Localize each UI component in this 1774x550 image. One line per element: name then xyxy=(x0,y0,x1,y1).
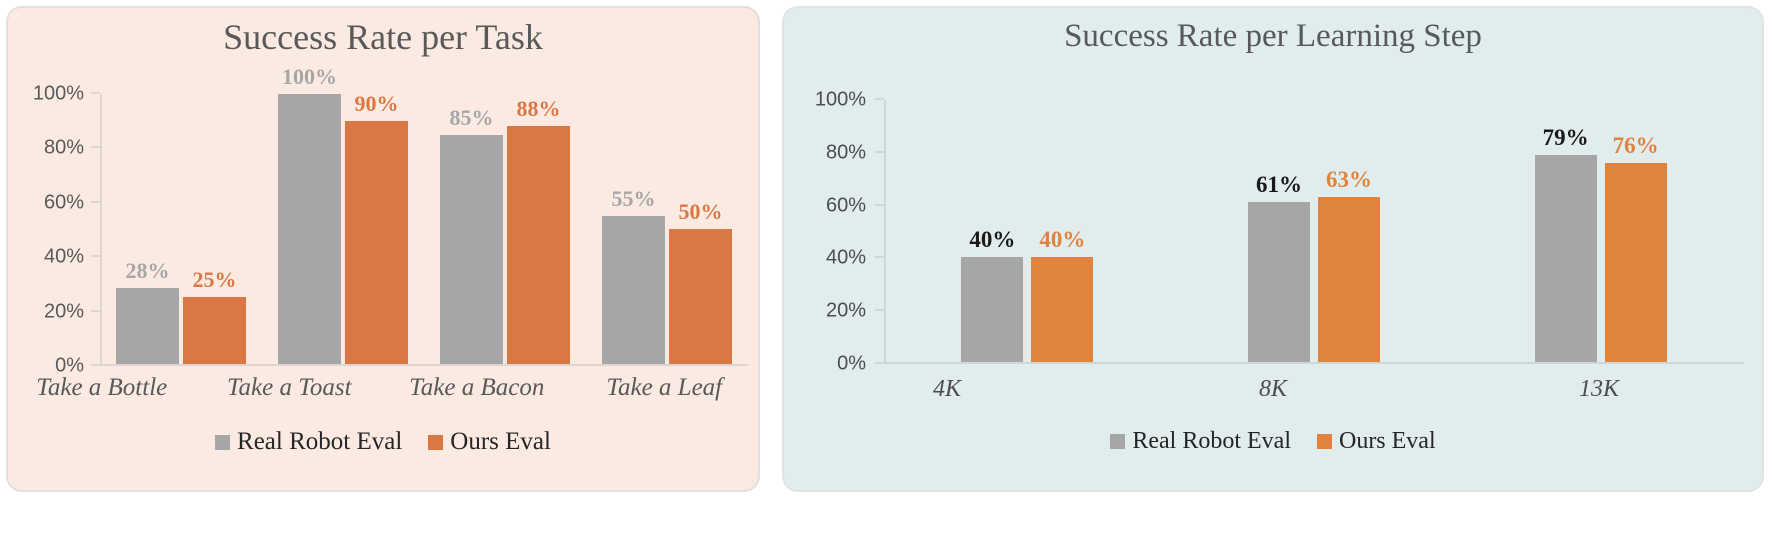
y-axis-tick-label: 60% xyxy=(44,191,84,214)
legend-swatch-icon xyxy=(1317,434,1332,449)
y-axis-tick-label: 40% xyxy=(826,247,866,270)
bar-value-label: 40% xyxy=(969,227,1015,253)
legend-left: Real Robot EvalOurs Eval xyxy=(8,428,758,456)
y-axis-tick xyxy=(875,309,884,311)
x-axis-line xyxy=(884,362,1744,364)
x-axis-category-label: 13K xyxy=(1436,376,1762,403)
bar-group: 28%25% xyxy=(100,94,262,364)
x-axis-category-label: Take a Bacon xyxy=(383,374,571,402)
chart-title: Success Rate per Learning Step xyxy=(784,18,1762,55)
x-axis-categories-left: Take a BottleTake a ToastTake a BaconTak… xyxy=(8,374,758,402)
plot-area-left: 0%20%40%60%80%100% 28%25%100%90%85%88%55… xyxy=(100,94,748,366)
y-axis-tick xyxy=(91,364,100,366)
chart-title: Success Rate per Task xyxy=(8,16,758,58)
x-axis-category-label: Take a Bottle xyxy=(8,374,196,402)
bar-group: 79%76% xyxy=(1457,100,1744,362)
chart-panel-success-rate-per-task: Success Rate per Task 0%20%40%60%80%100%… xyxy=(6,6,760,492)
bar-ours-eval[interactable]: 90% xyxy=(345,121,408,364)
bar-groups-right: 40%40%61%63%79%76% xyxy=(884,100,1744,362)
bar-value-label: 28% xyxy=(126,258,170,284)
bar-real-robot-eval[interactable]: 55% xyxy=(602,216,665,365)
y-axis-tick-label: 20% xyxy=(826,300,866,323)
bar-group: 61%63% xyxy=(1171,100,1458,362)
bar-ours-eval[interactable]: 40% xyxy=(1031,257,1093,362)
y-axis-tick xyxy=(91,201,100,203)
y-axis-tick xyxy=(875,362,884,364)
bar-real-robot-eval[interactable]: 100% xyxy=(278,94,341,364)
y-axis-tick-label: 0% xyxy=(837,353,866,376)
x-axis-category-label: Take a Toast xyxy=(196,374,384,402)
y-axis-tick-label: 60% xyxy=(826,194,866,217)
bar-value-label: 85% xyxy=(450,105,494,131)
bar-value-label: 55% xyxy=(612,186,656,212)
bar-value-label: 88% xyxy=(517,96,561,122)
bar-ours-eval[interactable]: 76% xyxy=(1605,163,1667,362)
bar-group: 100%90% xyxy=(262,94,424,364)
y-axis-tick-label: 100% xyxy=(33,83,84,106)
bar-value-label: 50% xyxy=(679,199,723,225)
bar-value-label: 40% xyxy=(1039,227,1085,253)
y-axis-tick-label: 100% xyxy=(815,89,866,112)
bar-value-label: 25% xyxy=(193,267,237,293)
bar-groups-left: 28%25%100%90%85%88%55%50% xyxy=(100,94,748,364)
bar-ours-eval[interactable]: 25% xyxy=(183,297,246,365)
plot-area-right: 0%20%40%60%80%100% 40%40%61%63%79%76% xyxy=(884,100,1744,364)
bar-group: 40%40% xyxy=(884,100,1171,362)
bar-ours-eval[interactable]: 50% xyxy=(669,229,732,364)
y-axis-tick xyxy=(91,92,100,94)
bar-value-label: 79% xyxy=(1543,125,1589,151)
y-axis-tick xyxy=(875,256,884,258)
bar-group: 55%50% xyxy=(586,94,748,364)
legend-label: Ours Eval xyxy=(450,428,551,456)
y-axis-tick-label: 40% xyxy=(44,246,84,269)
bar-value-label: 61% xyxy=(1256,172,1302,198)
legend-label: Real Robot Eval xyxy=(1132,428,1291,455)
bar-value-label: 76% xyxy=(1613,133,1659,159)
bar-real-robot-eval[interactable]: 79% xyxy=(1535,155,1597,362)
legend-item-ours-eval[interactable]: Ours Eval xyxy=(428,428,551,456)
y-axis-tick xyxy=(875,204,884,206)
x-axis-category-label: 8K xyxy=(1110,376,1436,403)
x-axis-category-label: 4K xyxy=(784,376,1110,403)
y-axis-tick xyxy=(91,255,100,257)
legend-swatch-icon xyxy=(1110,434,1125,449)
bar-value-label: 90% xyxy=(355,91,399,117)
legend-label: Ours Eval xyxy=(1339,428,1436,455)
y-axis-tick-label: 80% xyxy=(44,137,84,160)
charts-board: Success Rate per Task 0%20%40%60%80%100%… xyxy=(0,0,1774,550)
legend-right: Real Robot EvalOurs Eval xyxy=(784,428,1762,455)
legend-item-ours-eval[interactable]: Ours Eval xyxy=(1317,428,1436,455)
legend-swatch-icon xyxy=(428,435,443,450)
bar-value-label: 100% xyxy=(282,64,337,90)
legend-swatch-icon xyxy=(215,435,230,450)
legend-label: Real Robot Eval xyxy=(237,428,402,456)
bar-value-label: 63% xyxy=(1326,167,1372,193)
bar-group: 85%88% xyxy=(424,94,586,364)
bar-real-robot-eval[interactable]: 28% xyxy=(116,288,179,364)
bar-ours-eval[interactable]: 63% xyxy=(1318,197,1380,362)
chart-panel-success-rate-per-learning-step: Success Rate per Learning Step 0%20%40%6… xyxy=(782,6,1764,492)
x-axis-line xyxy=(100,364,748,366)
bar-ours-eval[interactable]: 88% xyxy=(507,126,570,364)
y-axis-tick-label: 80% xyxy=(826,141,866,164)
y-axis-tick xyxy=(875,98,884,100)
y-axis-tick-label: 20% xyxy=(44,300,84,323)
bar-real-robot-eval[interactable]: 61% xyxy=(1248,202,1310,362)
legend-item-real-robot-eval[interactable]: Real Robot Eval xyxy=(215,428,402,456)
y-axis-tick xyxy=(91,146,100,148)
y-axis-tick xyxy=(875,151,884,153)
bar-real-robot-eval[interactable]: 85% xyxy=(440,135,503,365)
x-axis-categories-right: 4K8K13K xyxy=(784,376,1762,403)
x-axis-category-label: Take a Leaf xyxy=(571,374,759,402)
bar-real-robot-eval[interactable]: 40% xyxy=(961,257,1023,362)
legend-item-real-robot-eval[interactable]: Real Robot Eval xyxy=(1110,428,1291,455)
y-axis-tick xyxy=(91,310,100,312)
